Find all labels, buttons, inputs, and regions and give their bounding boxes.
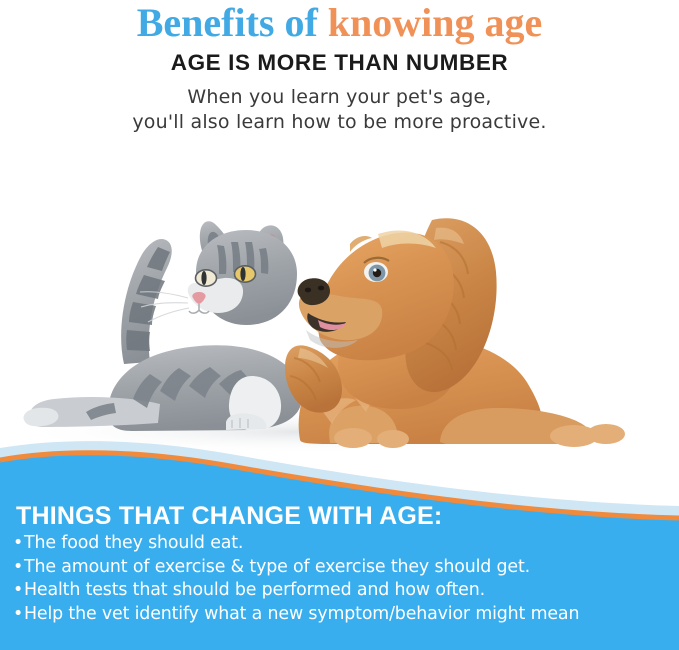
- infographic-card: Benefits of knowing age AGE IS MORE THAN…: [0, 0, 679, 650]
- list-item: •The amount of exercise & type of exerci…: [13, 556, 579, 580]
- changes-bullet-list: •The food they should eat. •The amount o…: [13, 532, 579, 626]
- bullet-marker-icon: •: [13, 556, 24, 580]
- things-change-heading: THINGS THAT CHANGE WITH AGE:: [16, 502, 442, 530]
- page-title-accent: knowing age: [328, 0, 543, 45]
- page-title-primary: Benefits of: [137, 0, 328, 45]
- bullet-marker-icon: •: [13, 603, 24, 627]
- list-item-label: The food they should eat.: [24, 533, 243, 553]
- list-item-label: The amount of exercise & type of exercis…: [24, 557, 530, 577]
- intro-paragraph-line-2: you'll also learn how to be more proacti…: [0, 110, 679, 135]
- bullet-marker-icon: •: [13, 579, 24, 603]
- bullet-marker-icon: •: [13, 532, 24, 556]
- list-item: •Health tests that should be performed a…: [13, 579, 579, 603]
- bottom-blue-panel: THINGS THAT CHANGE WITH AGE: •The food t…: [0, 420, 679, 650]
- header-block: Benefits of knowing age AGE IS MORE THAN…: [0, 0, 679, 135]
- list-item: •Help the vet identify what a new sympto…: [13, 603, 579, 627]
- list-item-label: Help the vet identify what a new symptom…: [24, 604, 579, 624]
- intro-paragraph: When you learn your pet's age, you'll al…: [0, 76, 679, 135]
- intro-paragraph-line-1: When you learn your pet's age,: [0, 85, 679, 110]
- page-title: Benefits of knowing age: [0, 0, 679, 45]
- bottom-panel-copy: THINGS THAT CHANGE WITH AGE: •The food t…: [0, 420, 679, 650]
- page-subtitle: AGE IS MORE THAN NUMBER: [0, 45, 679, 76]
- list-item-label: Health tests that should be performed an…: [24, 580, 485, 600]
- list-item: •The food they should eat.: [13, 532, 579, 556]
